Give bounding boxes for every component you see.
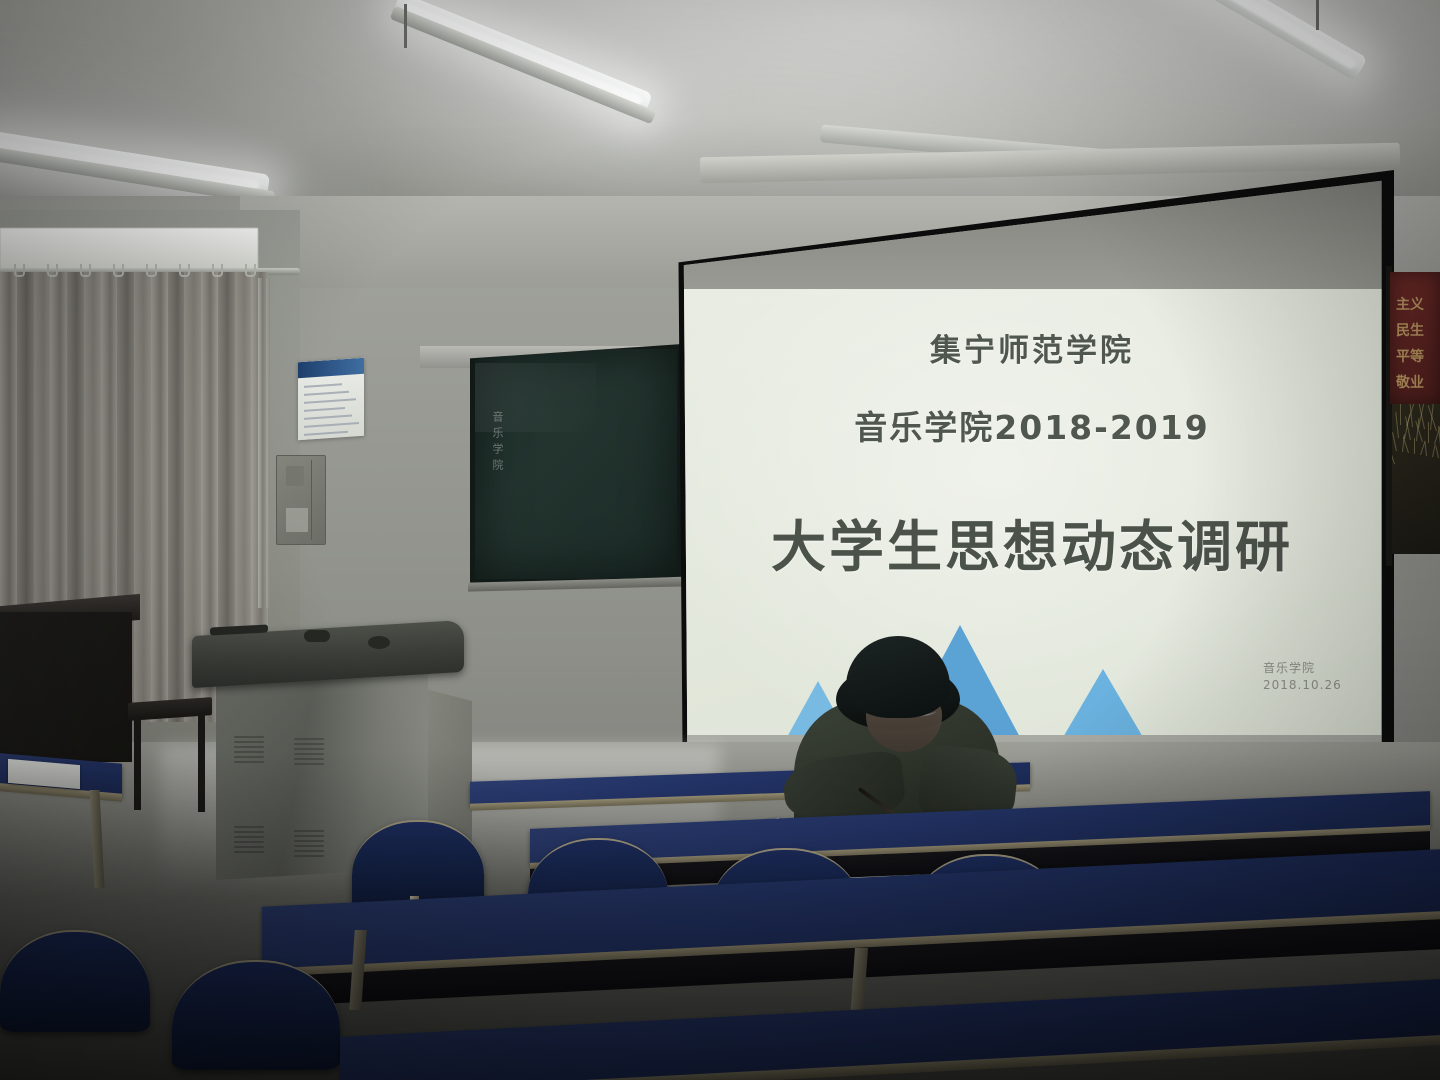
notice-text-line (304, 407, 345, 412)
notice-text-line (304, 398, 356, 404)
photo-poster (1392, 404, 1440, 554)
poster-texture (1392, 432, 1397, 451)
curtain-hook (245, 264, 256, 277)
upright-piano (0, 612, 132, 762)
light-hanger-2 (404, 4, 407, 48)
poster-texture (1392, 452, 1395, 464)
lectern-equipment-mouse[interactable] (304, 630, 330, 642)
wall-pipe-2 (266, 278, 270, 608)
light-hanger-3 (1316, 0, 1319, 30)
chair-back (172, 960, 340, 1070)
curtain-hook (80, 264, 91, 277)
blackboard-surface: 音乐学院 (470, 344, 682, 584)
wall-notice-board[interactable] (298, 358, 364, 441)
bench-leg (134, 716, 141, 810)
desk-row-2 (262, 878, 1440, 998)
lectern-vent (294, 738, 324, 760)
panel-window (286, 508, 308, 532)
notice-text-line (304, 415, 352, 420)
curtain-hook (47, 264, 58, 277)
slide-main-title: 大学生思想动态调研 (676, 502, 1388, 582)
curtain-pleat (134, 272, 151, 722)
poster-character: 民生 (1396, 320, 1424, 340)
poster-texture (1400, 404, 1401, 425)
poster-character: 主义 (1396, 294, 1424, 314)
wall-pipe-1 (258, 278, 262, 608)
slide-credit-org: 音乐学院 (1263, 660, 1342, 677)
curtain-pleat (151, 272, 168, 722)
curtain-hook (179, 264, 190, 277)
electrical-panel[interactable] (276, 455, 326, 545)
lectern-vent (294, 830, 324, 852)
slide-credit: 音乐学院 2018.10.26 (1263, 660, 1342, 695)
curtain-hook (146, 264, 157, 277)
notice-header (298, 358, 364, 379)
poster-texture (1428, 422, 1429, 443)
notice-text-line (304, 422, 359, 428)
panel-seam (311, 460, 312, 540)
slide-department-year: 音乐学院2018-2019 (676, 401, 1388, 449)
poster-texture (1436, 446, 1439, 458)
blackboard: 音乐学院 (470, 344, 682, 584)
curtain-pleat (168, 272, 185, 722)
lectern-vent (234, 826, 264, 848)
slide-credit-date: 2018.10.26 (1263, 677, 1342, 694)
core-values-poster: 主义民生平等敬业 (1390, 272, 1440, 404)
poster-character: 平等 (1396, 346, 1424, 366)
poster-texture (1395, 412, 1399, 438)
chair[interactable] (0, 930, 150, 1030)
curtain-hook (113, 264, 124, 277)
slide-institution-name: 集宁师范学院 (676, 325, 1388, 370)
poster-character: 敬业 (1396, 372, 1424, 392)
classroom-photo: 音乐学院 集宁师范学院 音乐学院2018-2019 大学生思想动态调研 音乐学院… (0, 0, 1440, 1080)
chair-back (0, 930, 150, 1032)
panel-dial (286, 466, 304, 486)
curtain-hook (14, 264, 25, 277)
curtain-hook (212, 264, 223, 277)
desk-row-front (340, 1008, 1440, 1080)
notice-text-line (304, 383, 342, 388)
lectern-vent (234, 736, 264, 758)
notice-text-line (304, 431, 348, 436)
lectern-equipment-knob[interactable] (368, 636, 390, 649)
blackboard-chalk-text: 音乐学院 (489, 411, 505, 475)
notice-text-line (304, 391, 349, 396)
poster-texture (1425, 442, 1427, 456)
student-hair (846, 636, 950, 718)
chair[interactable] (172, 960, 340, 1068)
poster-texture (1414, 438, 1415, 454)
